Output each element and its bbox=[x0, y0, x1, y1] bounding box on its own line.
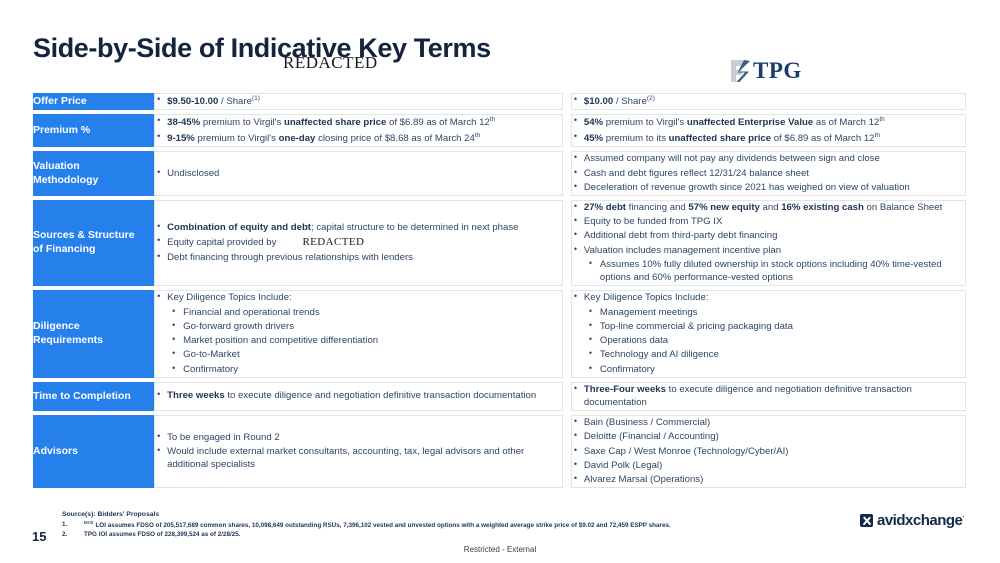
emphasis-text: 9-15% bbox=[167, 133, 195, 144]
bullet-sub-item: Assumes 10% fully diluted ownership in s… bbox=[572, 258, 965, 284]
body-text: Assumes 10% fully diluted ownership in s… bbox=[600, 259, 942, 283]
table-row: Sources & Structureof FinancingCombinati… bbox=[33, 200, 966, 286]
bullet-list: 38-45% premium to Virgil's unaffected sh… bbox=[155, 115, 562, 145]
body-text: Technology and AI diligence bbox=[600, 349, 719, 360]
bullet-item: 9-15% premium to Virgil's one-day closin… bbox=[155, 131, 562, 145]
body-text: Saxe Cap / West Monroe (Technology/Cyber… bbox=[584, 446, 789, 457]
body-text: closing price of $8.68 as of March 24 bbox=[315, 133, 474, 144]
inline-redaction: REDACTED bbox=[302, 236, 364, 248]
bullet-list: 54% premium to Virgil's unaffected Enter… bbox=[572, 115, 965, 145]
body-text: / Share bbox=[218, 96, 252, 107]
emphasis-text: $10.00 bbox=[584, 96, 613, 107]
tpg-logo: TPG bbox=[731, 58, 802, 84]
body-text: Management meetings bbox=[600, 307, 698, 318]
bullet-sub-item: Top-line commercial & pricing packaging … bbox=[572, 320, 965, 333]
emphasis-text: 38-45% bbox=[167, 118, 200, 129]
cell-bidder-tpg: Assumed company will not pay any dividen… bbox=[571, 151, 966, 196]
classification-label: Restricted - External bbox=[0, 545, 1000, 554]
cell-bidder-tpg: 54% premium to Virgil's unaffected Enter… bbox=[571, 114, 966, 147]
bullet-item: Undisclosed bbox=[155, 167, 562, 180]
bullet-item: $10.00 / Share(2) bbox=[572, 94, 965, 108]
table-row: DiligenceRequirementsKey Diligence Topic… bbox=[33, 290, 966, 377]
bullet-item: Additional debt from third-party debt fi… bbox=[572, 229, 965, 242]
bullet-sub-item: Operations data bbox=[572, 334, 965, 347]
emphasis-text: Three weeks bbox=[167, 390, 225, 401]
body-text: Key Diligence Topics Include: bbox=[584, 292, 709, 303]
cell-bidder-a: Key Diligence Topics Include:Financial a… bbox=[154, 290, 563, 377]
avidxchange-tm: · bbox=[962, 514, 964, 521]
row-label: DiligenceRequirements bbox=[33, 290, 154, 377]
bullet-sub-item: Market position and competitive differen… bbox=[155, 334, 562, 347]
bullet-list: $9.50-10.00 / Share(1) bbox=[155, 94, 562, 108]
column-spacer bbox=[563, 290, 571, 377]
row-label-line: Diligence bbox=[33, 320, 154, 334]
body-text: Debt financing through previous relation… bbox=[167, 252, 413, 263]
body-text: Undisclosed bbox=[167, 168, 219, 179]
body-text: Valuation includes management incentive … bbox=[584, 245, 781, 256]
bullet-item: Key Diligence Topics Include: bbox=[155, 291, 562, 304]
source-line: Source(s): Bidders' Proposals bbox=[62, 511, 159, 519]
footnote-redaction: RED bbox=[84, 520, 93, 525]
bullet-sub-item: Financial and operational trends bbox=[155, 306, 562, 319]
bullet-item: Alvarez Marsal (Operations) bbox=[572, 473, 965, 486]
bullet-list: Assumed company will not pay any dividen… bbox=[572, 152, 965, 194]
cell-bidder-tpg: Key Diligence Topics Include:Management … bbox=[571, 290, 966, 377]
key-terms-comparison-table: Offer Price$9.50-10.00 / Share(1)$10.00 … bbox=[33, 93, 966, 488]
page-title: Side-by-Side of Indicative Key Terms bbox=[33, 33, 491, 64]
cell-bidder-tpg: $10.00 / Share(2) bbox=[571, 93, 966, 110]
superscript-note: (1) bbox=[252, 95, 260, 102]
emphasis-text: unaffected share price bbox=[284, 118, 386, 129]
bullet-item: Equity capital provided byREDACTED bbox=[155, 235, 562, 250]
emphasis-text: Three-Four weeks bbox=[584, 384, 666, 395]
table-row: Offer Price$9.50-10.00 / Share(1)$10.00 … bbox=[33, 93, 966, 110]
emphasis-text: 57% new equity bbox=[688, 202, 759, 213]
body-text: Financial and operational trends bbox=[183, 307, 320, 318]
row-label-line: Valuation bbox=[33, 160, 154, 174]
emphasis-text: one-day bbox=[279, 133, 316, 144]
emphasis-text: 16% existing cash bbox=[781, 202, 864, 213]
avidxchange-mark-icon bbox=[860, 514, 873, 527]
tpg-mark-icon bbox=[731, 59, 750, 83]
emphasis-text: unaffected share price bbox=[669, 133, 771, 144]
cell-bidder-a: $9.50-10.00 / Share(1) bbox=[154, 93, 563, 110]
table-row: AdvisorsTo be engaged in Round 2Would in… bbox=[33, 415, 966, 488]
column-spacer bbox=[563, 151, 571, 196]
bullet-item: Three weeks to execute diligence and neg… bbox=[155, 389, 562, 402]
body-text: ; capital structure to be determined in … bbox=[311, 222, 518, 233]
bullet-sub-item: Go-forward growth drivers bbox=[155, 320, 562, 333]
body-text: of $6.89 as of March 12 bbox=[771, 133, 874, 144]
bullet-item: Deloitte (Financial / Accounting) bbox=[572, 430, 965, 443]
bullet-sub-item: Management meetings bbox=[572, 306, 965, 319]
bullet-item: Key Diligence Topics Include: bbox=[572, 291, 965, 304]
footnote-number: 2. bbox=[62, 530, 84, 539]
bullet-item: Cash and debt figures reflect 12/31/24 b… bbox=[572, 167, 965, 180]
bullet-item: To be engaged in Round 2 bbox=[155, 431, 562, 444]
body-text: on Balance Sheet bbox=[864, 202, 942, 213]
emphasis-text: 45% bbox=[584, 133, 603, 144]
body-text: of $6.89 as of March 12 bbox=[386, 118, 489, 129]
body-text: Go-to-Market bbox=[183, 349, 240, 360]
bullet-list: Bain (Business / Commercial)Deloitte (Fi… bbox=[572, 416, 965, 486]
superscript-note: (2) bbox=[647, 95, 655, 102]
row-label-line: Methodology bbox=[33, 174, 154, 188]
avidxchange-logo: avidxchange· bbox=[860, 512, 964, 529]
bullet-list: Combination of equity and debt; capital … bbox=[155, 221, 562, 265]
body-text: Operations data bbox=[600, 335, 668, 346]
bullet-item: $9.50-10.00 / Share(1) bbox=[155, 94, 562, 108]
left-edge-rail bbox=[0, 0, 11, 563]
body-text: Key Diligence Topics Include: bbox=[167, 292, 292, 303]
bullet-list: 27% debt financing and 57% new equity an… bbox=[572, 201, 965, 284]
column-spacer bbox=[563, 114, 571, 147]
table-body: Offer Price$9.50-10.00 / Share(1)$10.00 … bbox=[33, 93, 966, 488]
emphasis-text: 27% debt bbox=[584, 202, 626, 213]
bullet-item: Assumed company will not pay any dividen… bbox=[572, 152, 965, 165]
bullet-list: $10.00 / Share(2) bbox=[572, 94, 965, 108]
cell-bidder-a: 38-45% premium to Virgil's unaffected sh… bbox=[154, 114, 563, 147]
body-text: Confirmatory bbox=[183, 364, 238, 375]
bullet-item: Equity to be funded from TPG IX bbox=[572, 215, 965, 228]
body-text: to execute diligence and negotiation def… bbox=[225, 390, 536, 401]
body-text: Equity capital provided by bbox=[167, 237, 276, 248]
body-text: To be engaged in Round 2 bbox=[167, 432, 280, 443]
row-label: Offer Price bbox=[33, 93, 154, 110]
body-text: Deloitte (Financial / Accounting) bbox=[584, 431, 719, 442]
table-row: ValuationMethodologyUndisclosedAssumed c… bbox=[33, 151, 966, 196]
bullet-list: Key Diligence Topics Include:Management … bbox=[572, 291, 965, 375]
bullet-list: Key Diligence Topics Include:Financial a… bbox=[155, 291, 562, 375]
bullet-list: To be engaged in Round 2Would include ex… bbox=[155, 431, 562, 472]
bullet-item: 45% premium to its unaffected share pric… bbox=[572, 131, 965, 145]
bullet-item: Would include external market consultant… bbox=[155, 445, 562, 471]
table-row: Time to CompletionThree weeks to execute… bbox=[33, 382, 966, 411]
bullet-sub-item: Confirmatory bbox=[155, 363, 562, 376]
column-spacer bbox=[563, 382, 571, 411]
bullet-item: Deceleration of revenue growth since 202… bbox=[572, 181, 965, 194]
row-label-line: of Financing bbox=[33, 243, 154, 257]
footnote-row: 1.REDLOI assumes FDSO of 205,517,689 com… bbox=[62, 520, 671, 530]
bullet-item: Three-Four weeks to execute diligence an… bbox=[572, 383, 965, 409]
body-text: Market position and competitive differen… bbox=[183, 335, 378, 346]
row-label-line: Sources & Structure bbox=[33, 229, 154, 243]
column-spacer bbox=[563, 200, 571, 286]
title-redaction-overlay: REDACTED bbox=[283, 53, 378, 73]
footnote-text: REDLOI assumes FDSO of 205,517,689 commo… bbox=[84, 520, 671, 530]
footnote-number: 1. bbox=[62, 520, 84, 530]
body-text: premium to Virgil's bbox=[603, 118, 687, 129]
cell-bidder-tpg: Bain (Business / Commercial)Deloitte (Fi… bbox=[571, 415, 966, 488]
emphasis-text: 54% bbox=[584, 118, 603, 129]
table-row: Premium %38-45% premium to Virgil's unaf… bbox=[33, 114, 966, 147]
body-text: Assumed company will not pay any dividen… bbox=[584, 153, 880, 164]
body-text: Top-line commercial & pricing packaging … bbox=[600, 321, 793, 332]
column-spacer bbox=[563, 93, 571, 110]
body-text: David Polk (Legal) bbox=[584, 460, 662, 471]
cell-bidder-tpg: Three-Four weeks to execute diligence an… bbox=[571, 382, 966, 411]
cell-bidder-a: Undisclosed bbox=[154, 151, 563, 196]
row-label: Time to Completion bbox=[33, 382, 154, 411]
bullet-item: 38-45% premium to Virgil's unaffected sh… bbox=[155, 115, 562, 129]
body-text: Confirmatory bbox=[600, 364, 655, 375]
body-text: Would include external market consultant… bbox=[167, 446, 524, 470]
tpg-wordmark: TPG bbox=[753, 58, 802, 84]
row-label-line: Requirements bbox=[33, 334, 154, 348]
bullet-list: Three-Four weeks to execute diligence an… bbox=[572, 383, 965, 409]
emphasis-text: Combination of equity and debt bbox=[167, 222, 311, 233]
body-text: Alvarez Marsal (Operations) bbox=[584, 474, 703, 485]
footnotes-block: 1.REDLOI assumes FDSO of 205,517,689 com… bbox=[62, 520, 671, 539]
cell-bidder-a: Combination of equity and debt; capital … bbox=[154, 200, 563, 286]
bullet-item: Combination of equity and debt; capital … bbox=[155, 221, 562, 234]
body-text: Additional debt from third-party debt fi… bbox=[584, 230, 778, 241]
bullet-item: 54% premium to Virgil's unaffected Enter… bbox=[572, 115, 965, 129]
emphasis-text: unaffected Enterprise Value bbox=[687, 118, 813, 129]
body-text: Deceleration of revenue growth since 202… bbox=[584, 182, 910, 193]
page-number: 15 bbox=[32, 529, 46, 544]
body-text: Cash and debt figures reflect 12/31/24 b… bbox=[584, 168, 809, 179]
avidxchange-wordmark-text: avidxchange bbox=[877, 512, 962, 529]
emphasis-text: $9.50-10.00 bbox=[167, 96, 218, 107]
column-spacer bbox=[563, 415, 571, 488]
body-text: and bbox=[760, 202, 781, 213]
bullet-item: David Polk (Legal) bbox=[572, 459, 965, 472]
row-label: Premium % bbox=[33, 114, 154, 147]
row-label: Advisors bbox=[33, 415, 154, 488]
body-text: premium to Virgil's bbox=[195, 133, 279, 144]
body-text: / Share bbox=[613, 96, 647, 107]
bullet-item: Saxe Cap / West Monroe (Technology/Cyber… bbox=[572, 445, 965, 458]
cell-bidder-tpg: 27% debt financing and 57% new equity an… bbox=[571, 200, 966, 286]
row-label: Sources & Structureof Financing bbox=[33, 200, 154, 286]
row-label: ValuationMethodology bbox=[33, 151, 154, 196]
body-text: financing and bbox=[626, 202, 688, 213]
body-text: Equity to be funded from TPG IX bbox=[584, 216, 722, 227]
bullet-sub-item: Technology and AI diligence bbox=[572, 348, 965, 361]
bullet-sub-item: Confirmatory bbox=[572, 363, 965, 376]
bullet-item: Bain (Business / Commercial) bbox=[572, 416, 965, 429]
body-text: premium to Virgil's bbox=[200, 118, 284, 129]
superscript-note: th bbox=[879, 116, 885, 123]
body-text: as of March 12 bbox=[813, 118, 879, 129]
body-text: Go-forward growth drivers bbox=[183, 321, 294, 332]
avidxchange-wordmark: avidxchange· bbox=[877, 512, 964, 529]
superscript-note: th bbox=[875, 132, 881, 139]
body-text: premium to its bbox=[603, 133, 669, 144]
cell-bidder-a: To be engaged in Round 2Would include ex… bbox=[154, 415, 563, 488]
cell-bidder-a: Three weeks to execute diligence and neg… bbox=[154, 382, 563, 411]
bullet-item: Valuation includes management incentive … bbox=[572, 244, 965, 257]
bullet-item: Debt financing through previous relation… bbox=[155, 251, 562, 264]
footnote-row: 2.TPG IOI assumes FDSO of 228,399,524 as… bbox=[62, 530, 671, 539]
superscript-note: th bbox=[475, 132, 481, 139]
bullet-list: Undisclosed bbox=[155, 167, 562, 180]
footnote-text: TPG IOI assumes FDSO of 228,399,524 as o… bbox=[84, 530, 240, 539]
bullet-sub-item: Go-to-Market bbox=[155, 348, 562, 361]
body-text: Bain (Business / Commercial) bbox=[584, 417, 710, 428]
superscript-note: th bbox=[490, 116, 496, 123]
bullet-item: 27% debt financing and 57% new equity an… bbox=[572, 201, 965, 214]
slide-canvas: Side-by-Side of Indicative Key Terms RED… bbox=[0, 0, 1000, 563]
bullet-list: Three weeks to execute diligence and neg… bbox=[155, 389, 562, 402]
